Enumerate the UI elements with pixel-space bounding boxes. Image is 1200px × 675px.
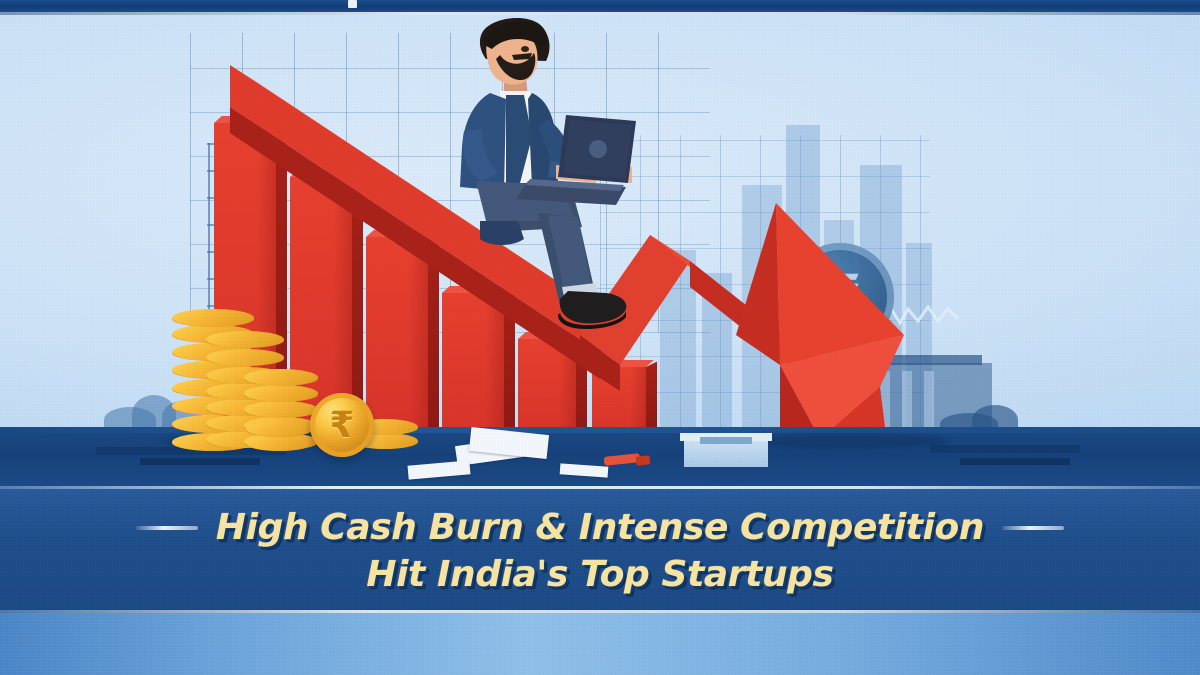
scene-texture — [0, 15, 1200, 489]
headline-line-1: High Cash Burn & Intense Competition — [216, 507, 984, 548]
headline-line-2: Hit India's Top Startups — [366, 554, 833, 595]
top-strip — [0, 0, 1200, 12]
headline-block: High Cash Burn & Intense Competition Hit… — [0, 489, 1200, 613]
left-rule — [136, 526, 198, 530]
right-rule — [1002, 526, 1064, 530]
bottom-band-texture — [0, 613, 1200, 675]
headline-row-1: High Cash Burn & Intense Competition — [136, 507, 1064, 548]
banner-root: ₹ — [0, 0, 1200, 675]
top-strip-chip — [348, 0, 357, 8]
illustration-scene: ₹ — [0, 15, 1200, 489]
